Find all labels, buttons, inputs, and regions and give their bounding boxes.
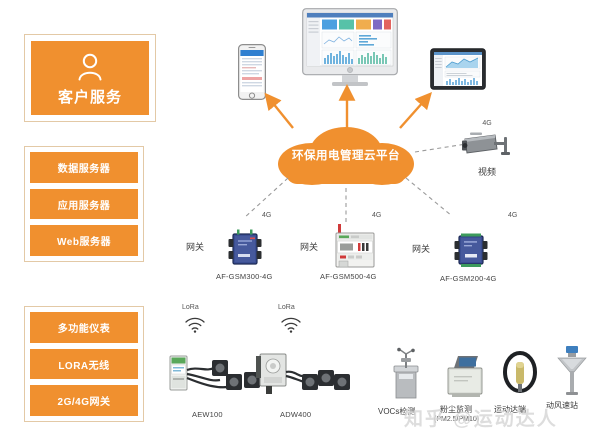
wifi-signal-icon <box>184 316 206 334</box>
cloud-platform-label: 环保用电管理云平台 <box>272 124 420 186</box>
cctv-camera-icon <box>452 131 522 163</box>
gateway-2-model: AF-GSM500-4G <box>320 272 377 281</box>
lora-label-1: LoRa <box>182 304 199 311</box>
wifi-signal-icon <box>280 316 302 334</box>
noise-sensor-icon <box>502 352 538 396</box>
weather-station-icon <box>554 344 590 396</box>
gateway-2-network-label: 4G <box>372 212 381 219</box>
camera-network-label: 4G <box>452 120 522 127</box>
field-device-adw400-model: ADW400 <box>280 410 311 419</box>
camera-label: 视频 <box>452 165 522 178</box>
diagram-canvas: 客户服务 数据服务器 应用服务器 Web服务器 多功能仪表 LORA无线 2G/… <box>0 0 600 446</box>
blue-gateway-icon <box>454 230 488 270</box>
din-rail-gateway-icon <box>334 224 378 270</box>
gateway-3-role-label: 网关 <box>412 242 430 255</box>
blue-gateway-icon <box>228 228 262 268</box>
gateway-2-role-label: 网关 <box>300 240 318 253</box>
vocs-detector-icon <box>386 348 426 400</box>
field-device-aew100-model: AEW100 <box>192 410 223 419</box>
zhihu-watermark: 知乎 @运动达人 <box>404 404 558 431</box>
dust-monitor-icon <box>444 352 486 398</box>
gateway-3-model: AF-GSM200-4G <box>440 274 497 283</box>
gateway-3-network-label: 4G <box>508 212 517 219</box>
ADW400-meter-with-ct-icon <box>256 352 360 404</box>
gateway-1-network-label: 4G <box>262 212 271 219</box>
lora-label-2: LoRa <box>278 304 295 311</box>
cloud-platform[interactable]: 环保用电管理云平台 <box>272 124 420 186</box>
video-camera-group: 4G 视频 <box>452 120 522 176</box>
gateway-1-model: AF-GSM300-4G <box>216 272 273 281</box>
gateway-1-role-label: 网关 <box>186 240 204 253</box>
